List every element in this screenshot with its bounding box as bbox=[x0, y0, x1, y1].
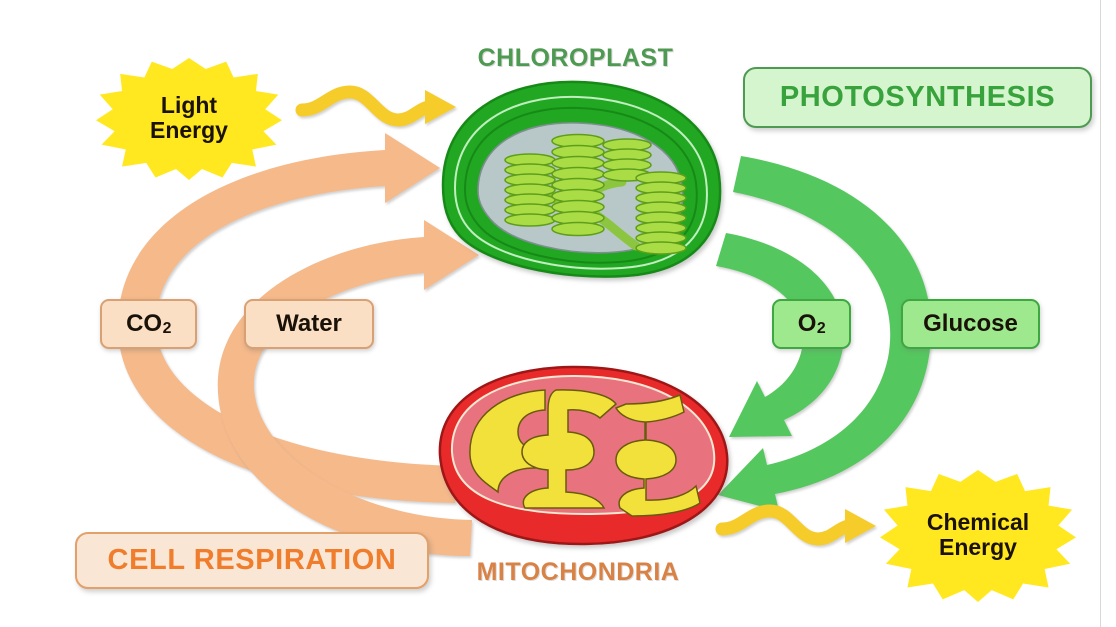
molecule-chip-o2: O2 bbox=[772, 299, 851, 349]
photosynthesis-banner-label: PHOTOSYNTHESIS bbox=[780, 81, 1055, 114]
molecule-chip-co2-subscript: 2 bbox=[163, 320, 172, 338]
chemical-energy-line-2: Energy bbox=[927, 535, 1029, 560]
chemical-energy-line-1: Chemical bbox=[927, 510, 1029, 535]
molecule-chip-o2-label: O bbox=[798, 310, 817, 338]
cell-respiration-banner: CELL RESPIRATION bbox=[75, 532, 429, 589]
molecule-chip-glucose-label: Glucose bbox=[923, 310, 1018, 338]
granum-stack bbox=[505, 154, 555, 226]
molecule-chip-co2: CO2 bbox=[100, 299, 197, 349]
cell-respiration-banner-label: CELL RESPIRATION bbox=[108, 544, 397, 577]
chemical-energy-burst: Chemical Energy bbox=[880, 470, 1076, 602]
light-energy-line-2: Energy bbox=[150, 118, 228, 143]
arrow-chemical-energy-out bbox=[722, 509, 876, 543]
granum-stack bbox=[552, 135, 604, 236]
photosynthesis-banner: PHOTOSYNTHESIS bbox=[743, 67, 1092, 128]
molecule-chip-co2-label: CO bbox=[126, 310, 162, 338]
light-energy-line-1: Light bbox=[150, 93, 228, 118]
molecule-chip-water-label: Water bbox=[276, 310, 342, 338]
molecule-chip-water: Water bbox=[244, 299, 374, 349]
arrow-water-to-chloroplast bbox=[218, 220, 479, 556]
diagram-canvas: CHLOROPLAST MITOCHONDRIA PHOTOSYNTHESIS … bbox=[0, 0, 1116, 627]
diagram-artboard: CHLOROPLAST MITOCHONDRIA PHOTOSYNTHESIS … bbox=[0, 0, 1116, 627]
molecule-chip-o2-subscript: 2 bbox=[817, 320, 826, 338]
right-edge-rule bbox=[1100, 0, 1101, 627]
mitochondria-organelle bbox=[440, 367, 727, 544]
arrow-light-energy-in bbox=[302, 90, 456, 124]
chloroplast-organelle bbox=[443, 82, 720, 277]
molecule-chip-glucose: Glucose bbox=[901, 299, 1040, 349]
light-energy-burst: Light Energy bbox=[96, 58, 282, 180]
granum-stack bbox=[636, 172, 686, 254]
